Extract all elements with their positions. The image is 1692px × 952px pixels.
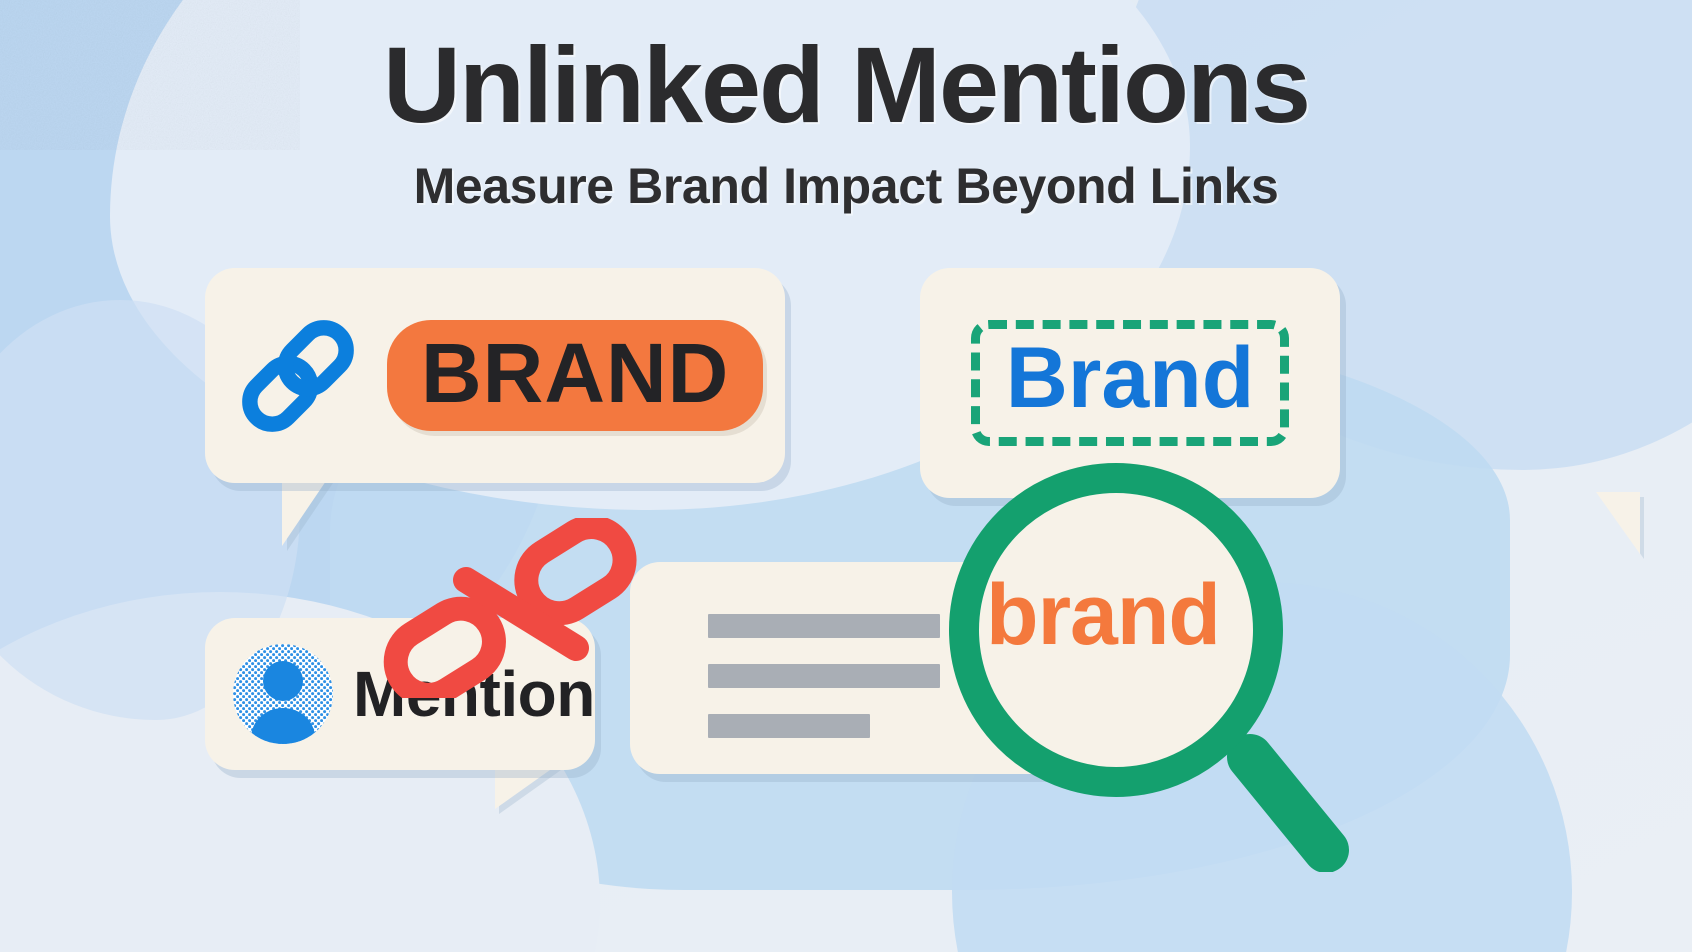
magnifier-word: brand [978, 572, 1228, 658]
brand-badge-label: BRAND [421, 334, 729, 413]
document-text-line [708, 714, 870, 738]
broken-chain-icon [358, 518, 668, 698]
bubble-tail-unlinked [1596, 492, 1640, 554]
brand-badge: BRAND [387, 320, 763, 431]
speech-bubble-linked-mention: BRAND [205, 268, 785, 483]
page-subtitle: Measure Brand Impact Beyond Links [0, 157, 1692, 215]
document-text-line [708, 664, 940, 688]
page-title: Unlinked Mentions [0, 28, 1692, 141]
bubble-tail-linked [282, 478, 328, 546]
bubble-tail-mention [495, 765, 557, 809]
dashed-brand-box: Brand [971, 320, 1289, 446]
illustration-canvas: Unlinked Mentions Measure Brand Impact B… [0, 0, 1692, 952]
unlinked-brand-label: Brand [1006, 335, 1254, 423]
heading-block: Unlinked Mentions Measure Brand Impact B… [0, 28, 1692, 215]
chain-link-icon [223, 306, 373, 446]
user-avatar-icon [233, 644, 333, 744]
document-text-line [708, 614, 940, 638]
